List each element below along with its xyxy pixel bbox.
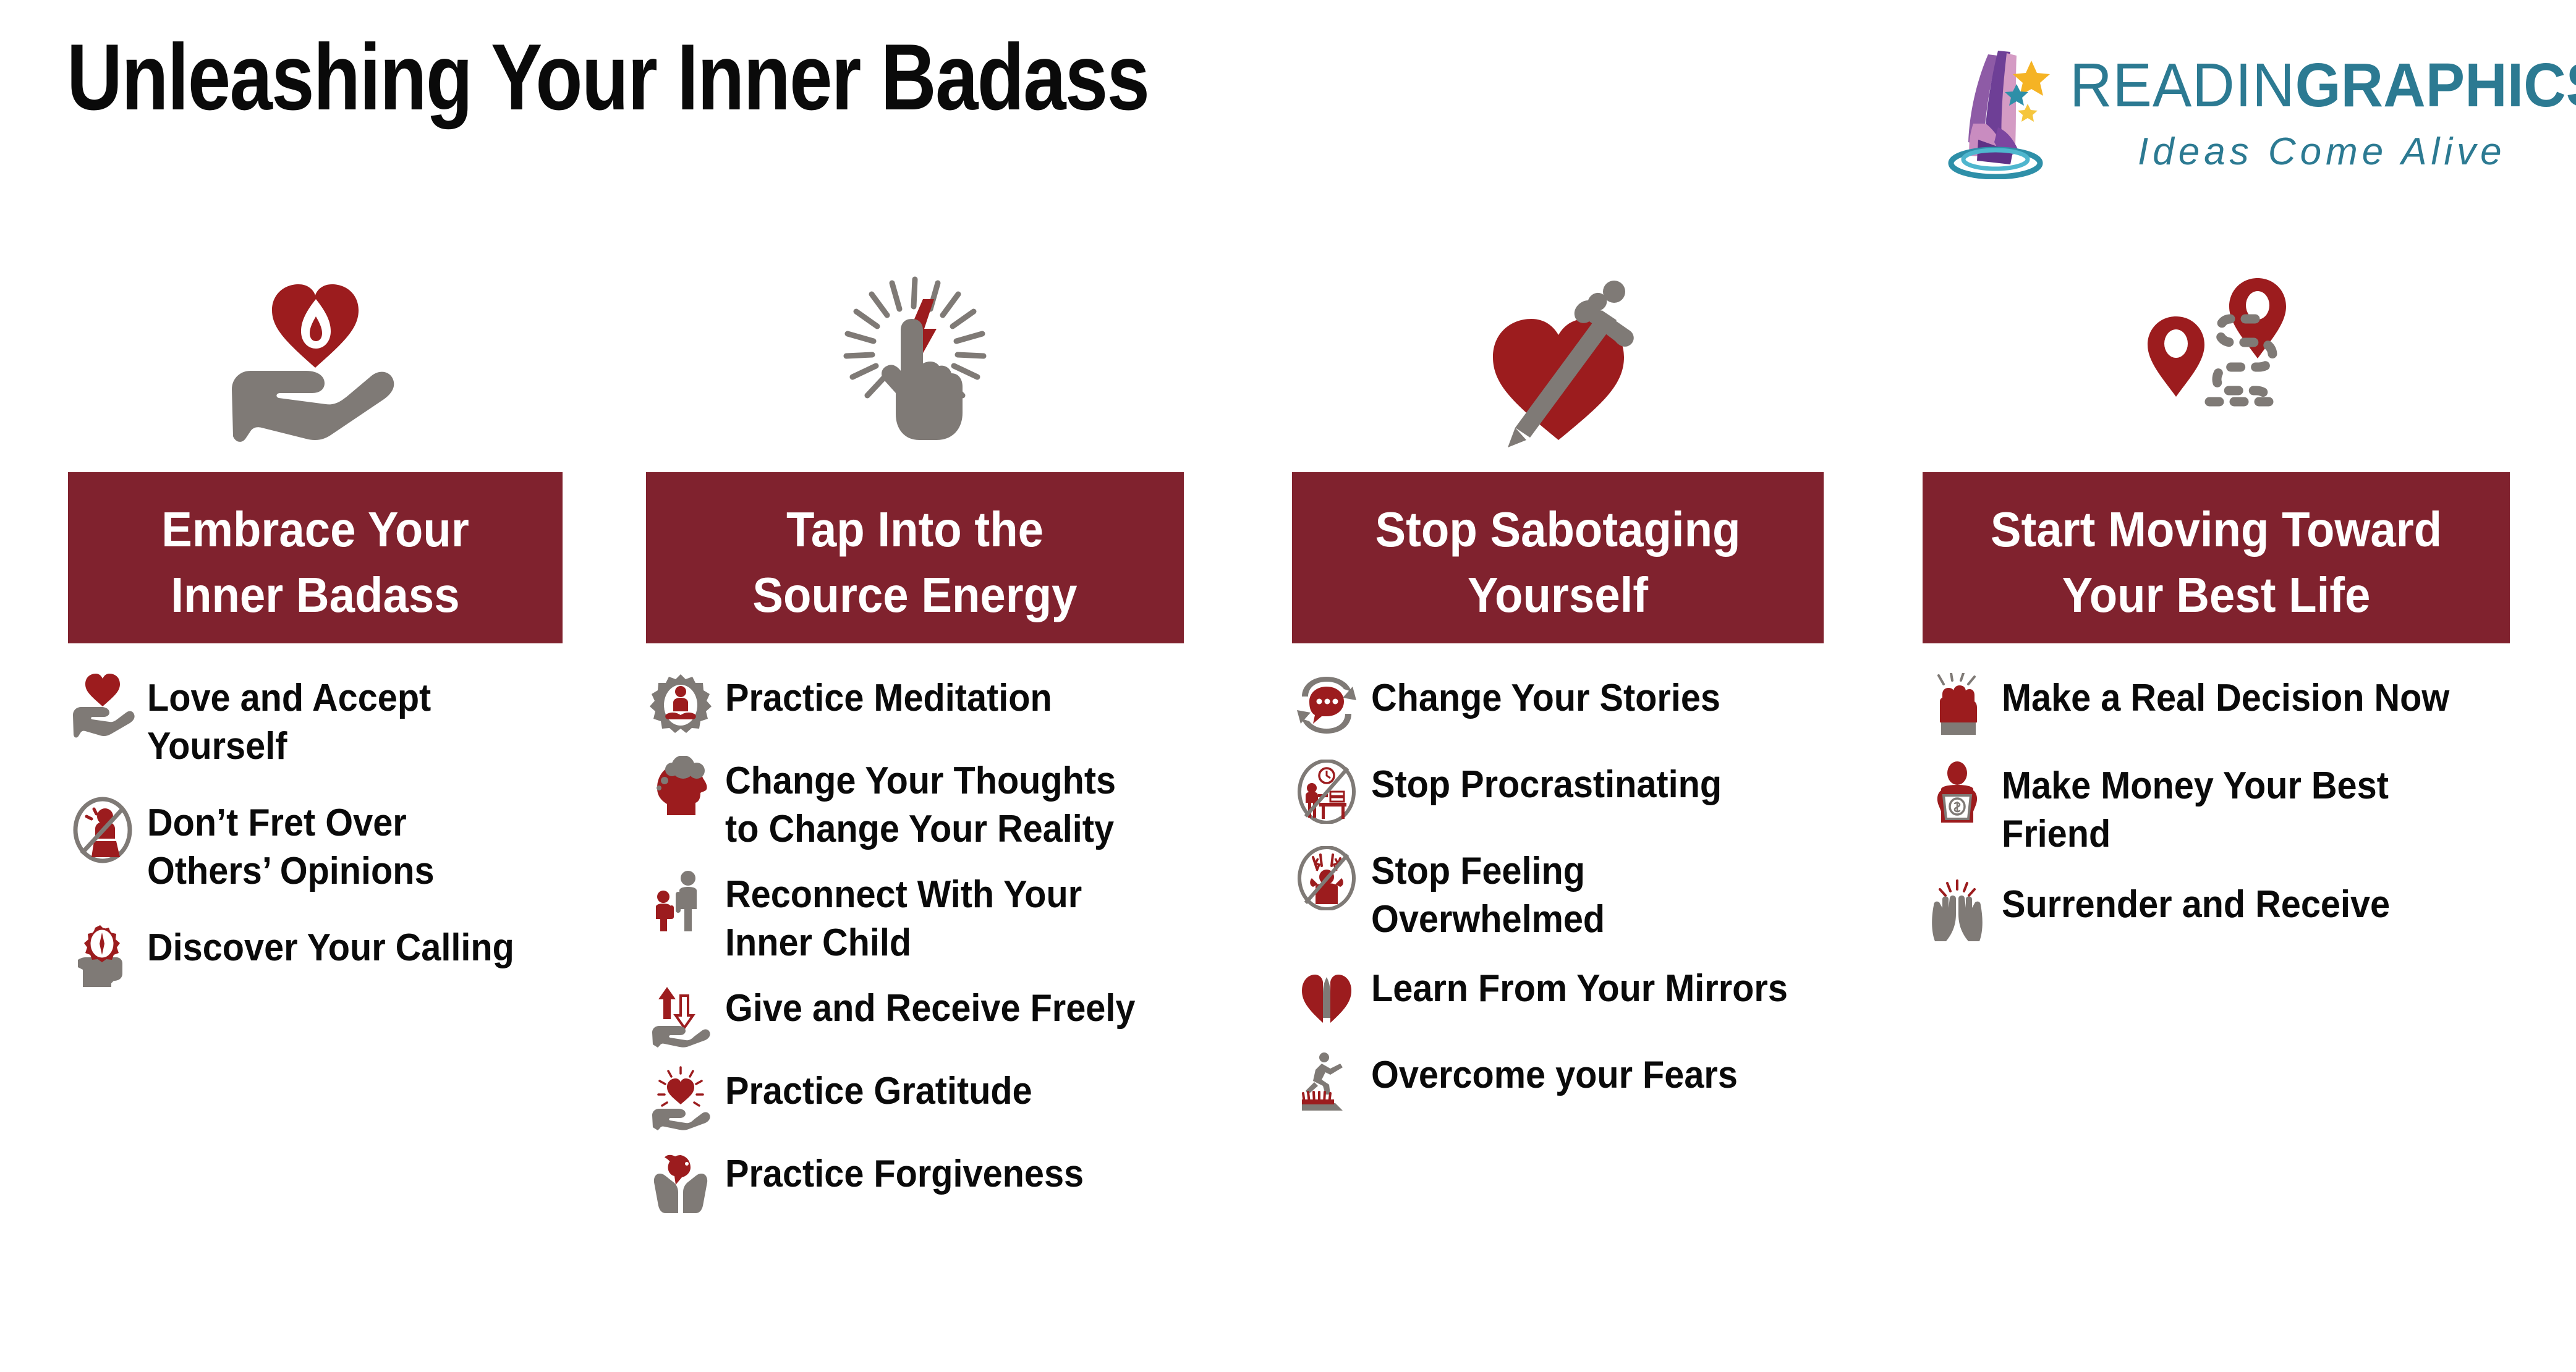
column-stop-sabotaging-yourself: Stop Sabotaging Yourself Change Your Sto… [1292, 222, 1824, 1134]
list-item-label: Practice Meditation [725, 671, 1052, 722]
list-item[interactable]: Love and Accept Yourself [68, 671, 563, 771]
head-thought-cloud-icon [646, 753, 715, 823]
list-item-label: Give and Receive Freely [725, 981, 1135, 1033]
hand-holding-flaming-heart-icon [68, 222, 563, 457]
column-2-header-band: Tap Into the Source Energy [646, 472, 1184, 643]
runner-hurdle-icon [1292, 1048, 1361, 1117]
column-1-title-line-1: Embrace Your [91, 497, 539, 562]
column-3-title-line-1: Stop Sabotaging [1316, 497, 1799, 562]
list-item-label: Don’t Fret Over Others’ Opinions [147, 795, 533, 896]
column-1-header-band: Embrace Your Inner Badass [68, 472, 563, 643]
logo-wordmark: READINGRAPHICS [2070, 54, 2576, 116]
list-item-label: Practice Forgiveness [725, 1146, 1084, 1198]
column-4-title-line-2: Your Best Life [1949, 562, 2484, 628]
column-1-title-line-2: Inner Badass [91, 562, 539, 628]
list-item[interactable]: Learn From Your Mirrors [1292, 961, 1824, 1030]
column-1-items: Love and Accept Yourself Don’t Fret Over… [68, 671, 563, 989]
column-4-header-band: Start Moving Toward Your Best Life [1923, 472, 2510, 643]
list-item[interactable]: Don’t Fret Over Others’ Opinions [68, 795, 563, 896]
list-item-label: Change Your Stories [1371, 671, 1720, 722]
column-4-items: Make a Real Decision Now Make Money Your… [1923, 671, 2510, 946]
list-item-label: Overcome your Fears [1371, 1048, 1738, 1099]
list-item[interactable]: Make a Real Decision Now [1923, 671, 2510, 740]
column-2-items: Practice Meditation Change Your Thoughts… [646, 671, 1184, 1216]
list-item-label: Change Your Thoughts to Change Your Real… [725, 753, 1152, 853]
list-item[interactable]: Change Your Stories [1292, 671, 1824, 740]
list-item[interactable]: Give and Receive Freely [646, 981, 1184, 1050]
column-3-header-band: Stop Sabotaging Yourself [1292, 472, 1824, 643]
tapping-finger-lightning-icon [646, 222, 1184, 457]
mirror-split-heart-icon [1292, 961, 1361, 1030]
head-compass-gear-icon [68, 920, 137, 989]
list-item[interactable]: Reconnect With Your Inner Child [646, 867, 1184, 967]
person-holding-money-icon [1923, 758, 1992, 828]
logo-word-bold: GRAPHICS [2295, 51, 2576, 120]
meditation-gear-icon [646, 671, 715, 740]
page-title: Unleashing Your Inner Badass [67, 26, 1149, 129]
column-3-items: Change Your Stories [1292, 671, 1824, 1117]
no-procrastination-desk-icon [1292, 757, 1361, 826]
hand-exchange-arrows-icon [646, 981, 715, 1050]
list-item-label: Love and Accept Yourself [147, 671, 533, 771]
column-tap-into-the-source-energy: Tap Into the Source Energy Practice Medi… [646, 222, 1184, 1229]
list-item[interactable]: Make Money Your Best Friend [1923, 758, 2510, 858]
list-item-label: Stop Procrastinating [1371, 757, 1722, 809]
list-item[interactable]: Practice Forgiveness [646, 1146, 1184, 1216]
readinggraphics-logo: READINGRAPHICS Ideas Come Alive [1934, 37, 2552, 185]
list-item[interactable]: Practice Gratitude [646, 1064, 1184, 1133]
column-start-moving-toward-your-best-life: Start Moving Toward Your Best Life [1923, 222, 2510, 965]
list-item-label: Make Money Your Best Friend [2002, 758, 2474, 858]
column-4-title-line-1: Start Moving Toward [1949, 497, 2484, 562]
adult-and-child-icon [646, 867, 715, 936]
column-2-title-line-2: Source Energy [671, 562, 1160, 628]
list-item[interactable]: Stop Procrastinating [1292, 757, 1824, 826]
list-item-label: Learn From Your Mirrors [1371, 961, 1788, 1013]
list-item-label: Make a Real Decision Now [2002, 671, 2449, 722]
list-item[interactable]: Stop Feeling Overwhelmed [1292, 844, 1824, 944]
speech-bubble-refresh-icon [1292, 671, 1361, 740]
list-item[interactable]: Discover Your Calling [68, 920, 563, 989]
list-item-label: Discover Your Calling [147, 920, 514, 972]
column-embrace-your-inner-badass: Embrace Your Inner Badass Love and Accep… [68, 222, 563, 1014]
list-item-label: Reconnect With Your Inner Child [725, 867, 1152, 967]
logo-tagline: Ideas Come Alive [2138, 130, 2506, 174]
map-pins-dashed-route-icon [1923, 222, 2510, 457]
list-item-label: Stop Feeling Overwhelmed [1371, 844, 1792, 944]
hands-dove-icon [646, 1146, 715, 1216]
logo-word-light: READIN [2070, 51, 2295, 120]
hand-heart-icon [68, 671, 137, 740]
logo-book-feather-icon [1934, 37, 2064, 179]
sword-through-heart-icon [1292, 222, 1824, 457]
no-worry-person-icon [68, 795, 137, 865]
open-hands-rays-icon [1923, 877, 1992, 946]
no-stress-head-icon [1292, 844, 1361, 913]
hand-radiant-heart-icon [646, 1064, 715, 1133]
column-3-title-line-2: Yourself [1316, 562, 1799, 628]
column-2-title-line-1: Tap Into the [671, 497, 1160, 562]
list-item-label: Practice Gratitude [725, 1064, 1032, 1116]
list-item[interactable]: Change Your Thoughts to Change Your Real… [646, 753, 1184, 853]
list-item[interactable]: Overcome your Fears [1292, 1048, 1824, 1117]
list-item-label: Surrender and Receive [2002, 877, 2390, 929]
list-item[interactable]: Practice Meditation [646, 671, 1184, 740]
list-item[interactable]: Surrender and Receive [1923, 877, 2510, 946]
raised-fist-icon [1923, 671, 1992, 740]
